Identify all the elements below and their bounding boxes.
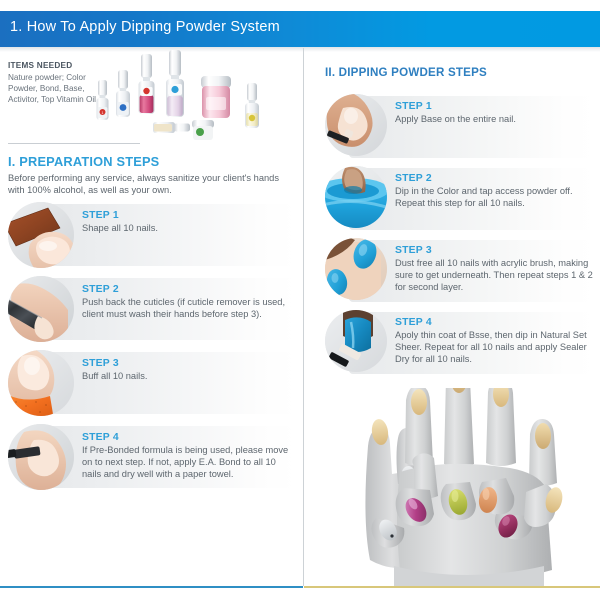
preparation-steps-heading: I. PREPARATION STEPS: [8, 154, 159, 169]
left-step-2-label: STEP 2: [82, 284, 292, 295]
svg-text:1: 1: [102, 111, 104, 115]
base-brush-art: [325, 94, 387, 156]
right-step-1-body: Apply Base on the entire nail.: [395, 113, 595, 125]
left-step-3: STEP 3 Buff all 10 nails.: [8, 350, 296, 420]
left-step-4-label: STEP 4: [82, 432, 292, 443]
cuticle-pusher-art: [8, 276, 74, 342]
dipping-powder-jar-art: [325, 166, 387, 228]
right-step-3-text-block: STEP 3 Dust free all 10 nails with acryl…: [395, 245, 595, 294]
blue-nail-with-brush-photo: [325, 310, 387, 372]
base-brush-photo: [325, 94, 387, 156]
left-step-1-text-block: STEP 1 Shape all 10 nails.: [82, 210, 292, 234]
page-title: 1. How To Apply Dipping Powder System: [10, 19, 280, 35]
right-step-2: STEP 2 Dip in the Color and tap access p…: [325, 166, 597, 234]
left-step-2-text-block: STEP 2 Push back the cuticles (if cuticl…: [82, 284, 292, 320]
left-step-1: STEP 1 Shape all 10 nails.: [8, 202, 296, 272]
bottom-rule-right: [304, 586, 600, 588]
right-step-1: STEP 1 Apply Base on the entire nail.: [325, 94, 597, 162]
left-step-4-body: If Pre-Bonded formula is being used, ple…: [82, 444, 292, 481]
infographic-page: 1. How To Apply Dipping Powder System IT…: [0, 0, 600, 600]
product-bottle-1: 1: [97, 80, 109, 120]
right-step-1-text-block: STEP 1 Apply Base on the entire nail.: [395, 101, 595, 125]
bottom-rule-left: [0, 586, 303, 588]
hands-art: [340, 388, 598, 586]
right-step-4-label: STEP 4: [395, 317, 595, 328]
cuticle-pusher-photo: [8, 276, 74, 342]
product-bottle-4: [166, 50, 184, 117]
right-step-2-body: Dip in the Color and tap access powder o…: [395, 185, 595, 209]
product-lineup-svg: 1: [96, 50, 301, 148]
right-step-3-body: Dust free all 10 nails with acrylic brus…: [395, 257, 595, 294]
product-lineup-image: 1: [96, 50, 301, 148]
left-column: ITEMS NEEDED Nature powder; Color Powder…: [0, 50, 303, 586]
items-needed-block: ITEMS NEEDED Nature powder; Color Powder…: [8, 61, 108, 106]
right-step-2-label: STEP 2: [395, 173, 595, 184]
blue-nails-art: [325, 238, 387, 300]
right-step-4-body: Apoly thin coat of Bsse, then dip in Nat…: [395, 329, 595, 366]
right-step-3-label: STEP 3: [395, 245, 595, 256]
product-bottle-lying: [153, 122, 190, 133]
blue-nail-brush-art: [325, 310, 387, 372]
left-step-3-text-block: STEP 3 Buff all 10 nails.: [82, 358, 292, 382]
dipping-powder-jar-photo: [325, 166, 387, 228]
product-powder-jar: [201, 76, 231, 118]
left-step-3-body: Buff all 10 nails.: [82, 370, 292, 382]
page-header-bar: 1. How To Apply Dipping Powder System: [0, 11, 600, 47]
product-small-jar: [192, 120, 214, 140]
left-step-2-body: Push back the cuticles (if cuticle remov…: [82, 296, 292, 320]
blue-nails-photo: [325, 238, 387, 300]
preparation-steps-intro: Before performing any service, always sa…: [8, 172, 288, 197]
bond-brush-art: [8, 424, 74, 490]
left-step-4-text-block: STEP 4 If Pre-Bonded formula is being us…: [82, 432, 292, 481]
left-step-3-label: STEP 3: [82, 358, 292, 369]
product-bottle-2: [116, 70, 130, 117]
items-needed-text: Nature powder; Color Powder, Bond, Base,…: [8, 72, 108, 106]
right-step-3: STEP 3 Dust free all 10 nails with acryl…: [325, 238, 597, 306]
product-bottle-5: [245, 83, 259, 128]
orange-buffer-art: [8, 350, 74, 416]
right-step-2-text-block: STEP 2 Dip in the Color and tap access p…: [395, 173, 595, 209]
product-bottle-3: [139, 54, 155, 114]
left-step-1-body: Shape all 10 nails.: [82, 222, 292, 234]
right-step-4-text-block: STEP 4 Apoly thin coat of Bsse, then dip…: [395, 317, 595, 366]
left-step-2: STEP 2 Push back the cuticles (if cuticl…: [8, 276, 296, 346]
bond-brush-photo: [8, 424, 74, 490]
orange-buffer-photo: [8, 350, 74, 416]
left-step-1-label: STEP 1: [82, 210, 292, 221]
left-step-4: STEP 4 If Pre-Bonded formula is being us…: [8, 424, 296, 494]
nail-file-art: [8, 202, 74, 268]
nail-file-photo: [8, 202, 74, 268]
dipping-powder-steps-heading: II. DIPPING POWDER STEPS: [325, 66, 487, 79]
front-hand: [397, 388, 557, 581]
right-step-1-label: STEP 1: [395, 101, 595, 112]
hands-with-colored-nails-image: [340, 388, 598, 586]
right-step-4: STEP 4 Apoly thin coat of Bsse, then dip…: [325, 310, 597, 378]
items-needed-title: ITEMS NEEDED: [8, 61, 108, 70]
items-divider-rule: [8, 143, 140, 144]
